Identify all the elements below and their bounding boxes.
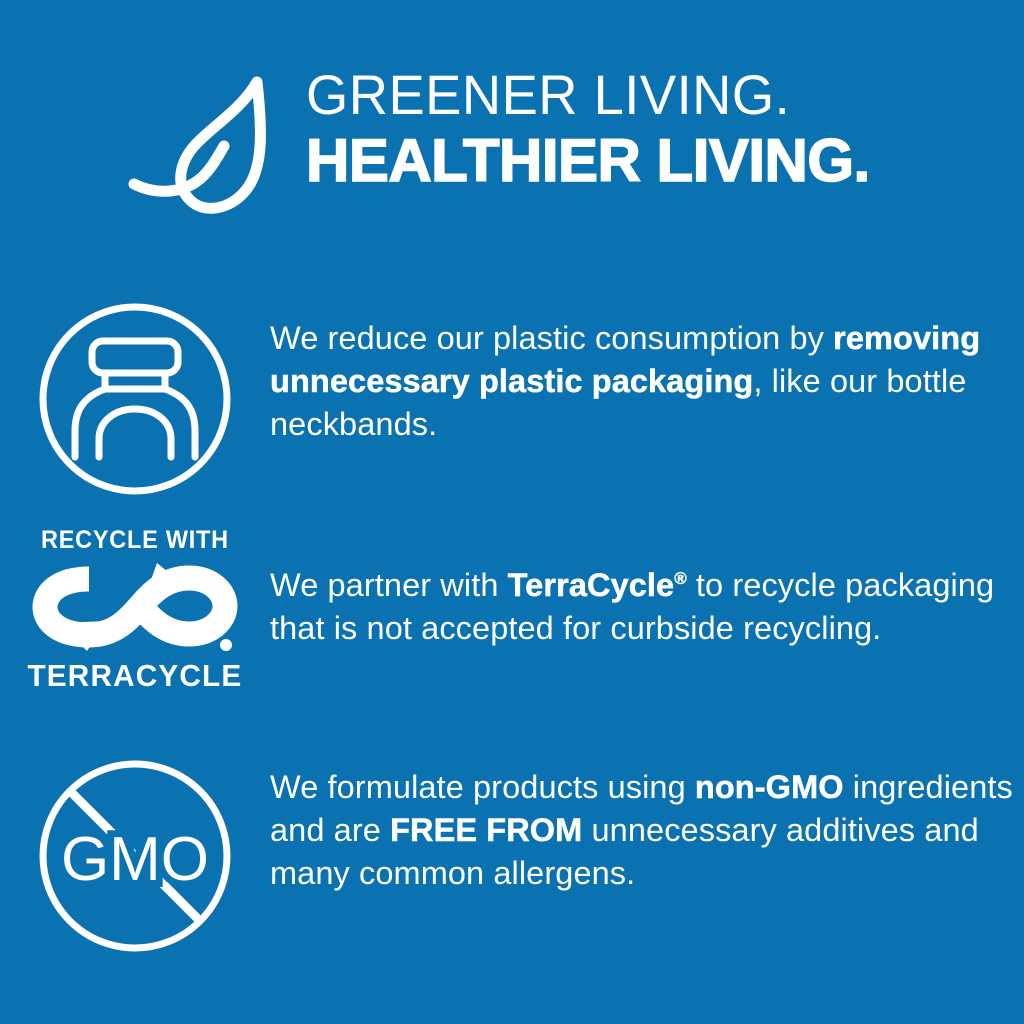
headline-line-2: HEALTHIER LIVING.	[306, 129, 870, 192]
icon-cell	[0, 295, 270, 499]
headline-line-1: GREENER LIVING.	[306, 66, 853, 123]
text-bold: TerraCycle	[508, 567, 675, 603]
text-bold: FREE FROM	[390, 812, 582, 848]
feature-text-plastic-reduction: We reduce our plastic consumption by rem…	[270, 317, 1024, 447]
greener-living-infographic: GREENER LIVING. HEALTHIER LIVING.	[0, 0, 1024, 1024]
registered-mark: ®	[674, 567, 687, 603]
feature-row-terracycle: RECYCLE WITH TERRACYCLE	[0, 528, 1024, 691]
gmo-label: GMO	[61, 825, 209, 894]
headline-block: GREENER LIVING. HEALTHIER LIVING.	[306, 62, 870, 192]
bottle-neckband-icon	[35, 299, 235, 499]
no-gmo-icon: GMO GMO	[35, 756, 235, 956]
feature-row-plastic-reduction: We reduce our plastic consumption by rem…	[0, 295, 1024, 499]
terracycle-logo: RECYCLE WITH TERRACYCLE	[29, 528, 241, 691]
text-cell: We partner with TerraCycle® to recycle p…	[270, 528, 1024, 650]
text-cell: We reduce our plastic consumption by rem…	[270, 295, 1024, 447]
feature-text-terracycle: We partner with TerraCycle® to recycle p…	[270, 564, 1024, 650]
header: GREENER LIVING. HEALTHIER LIVING.	[0, 62, 1024, 232]
feature-text-non-gmo: We formulate products using non-GMO ingr…	[270, 766, 1024, 896]
terracycle-bottom-label: TERRACYCLE	[28, 660, 243, 691]
recycle-infinity-icon	[29, 559, 241, 654]
icon-cell: RECYCLE WITH TERRACYCLE	[0, 528, 270, 691]
text-bold: non-GMO	[695, 769, 844, 805]
text-plain: We reduce our plastic consumption by	[270, 320, 833, 356]
text-cell: We formulate products using non-GMO ingr…	[270, 752, 1024, 896]
text-plain: We formulate products using	[270, 769, 695, 805]
text-plain: We partner with	[270, 567, 508, 603]
terracycle-top-label: RECYCLE WITH	[41, 528, 229, 553]
feature-row-non-gmo: GMO GMO We formulate products using non-…	[0, 752, 1024, 956]
icon-cell: GMO GMO	[0, 752, 270, 956]
leaf-icon	[112, 68, 292, 228]
